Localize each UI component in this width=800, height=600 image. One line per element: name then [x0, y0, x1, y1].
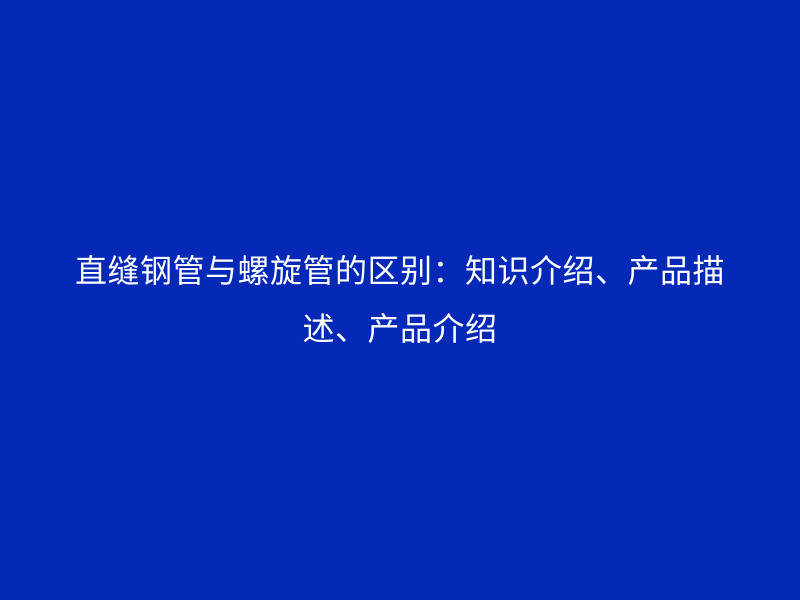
title-block: 直缝钢管与螺旋管的区别：知识介绍、产品描述、产品介绍: [50, 242, 750, 358]
page-title: 直缝钢管与螺旋管的区别：知识介绍、产品描述、产品介绍: [55, 242, 745, 358]
title-slide: 直缝钢管与螺旋管的区别：知识介绍、产品描述、产品介绍: [0, 0, 800, 600]
